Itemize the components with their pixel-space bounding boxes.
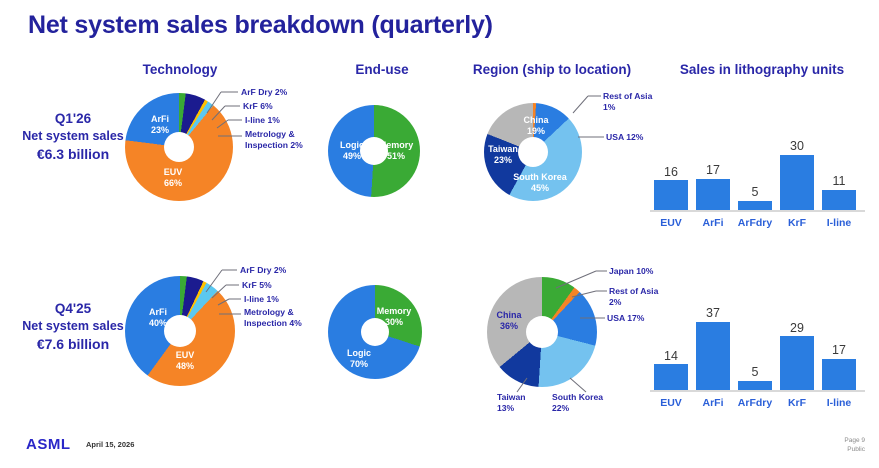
- bar-category-euv: EUV: [649, 397, 693, 409]
- bar-category-i-line: I-line: [817, 397, 861, 409]
- bar-axis-baseline: [650, 390, 865, 392]
- asml-logo: ASML: [26, 436, 71, 453]
- callout-usa-q4: USA 17%: [607, 313, 644, 324]
- bar-category-krf: KrF: [775, 397, 819, 409]
- bar-value-i-line: 17: [822, 343, 856, 357]
- footer-page-info: Page 9 Public: [844, 437, 865, 455]
- bar-value-arfi: 37: [696, 306, 730, 320]
- bar-value-arfdry: 5: [738, 365, 772, 379]
- callout-japan-q4: Japan 10%: [609, 266, 653, 277]
- footer-date: April 15, 2026: [86, 440, 134, 449]
- bar-column-i-line: 17: [822, 316, 856, 390]
- bar-value-krf: 29: [780, 321, 814, 335]
- bar-value-euv: 14: [654, 349, 688, 363]
- chart-sales-units-q4-25: 14 37 5 29 17 EUV ArFi ArFdry KrF I-line: [650, 300, 865, 410]
- bar-krf[interactable]: [780, 336, 814, 390]
- bar-category-arfdry: ArFdry: [733, 397, 777, 409]
- bar-euv[interactable]: [654, 364, 688, 390]
- slide-root: Net system sales breakdown (quarterly) T…: [0, 0, 879, 468]
- footer-page-number: Page 9: [844, 437, 865, 446]
- bar-column-arfi: 37: [696, 316, 730, 390]
- bar-arfdry[interactable]: [738, 381, 772, 390]
- bar-i-line[interactable]: [822, 359, 856, 391]
- bar-category-arfi: ArFi: [691, 397, 735, 409]
- bar-column-krf: 29: [780, 316, 814, 390]
- bar-arfi[interactable]: [696, 322, 730, 391]
- bar-column-euv: 14: [654, 316, 688, 390]
- bar-column-arfdry: 5: [738, 316, 772, 390]
- footer-classification: Public: [844, 446, 865, 455]
